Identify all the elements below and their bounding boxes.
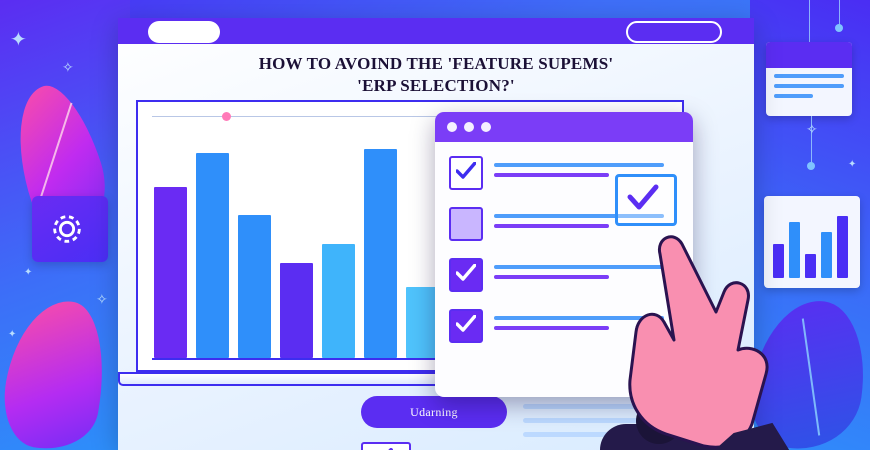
window-dot-icon[interactable] (481, 122, 491, 132)
page-title: HOW TO AVOIND THE 'FEATURE SUPEMS' 'ERP … (136, 54, 736, 96)
checkbox-3[interactable] (449, 258, 483, 292)
document-card-line (774, 94, 813, 98)
mini-bar (805, 254, 816, 278)
text-placeholder-line (494, 224, 609, 228)
hanging-dot-icon (807, 162, 815, 170)
panel-action-pill[interactable] (626, 21, 722, 43)
sparkle-icon: ✦ (10, 30, 27, 50)
panel-logo-pill (148, 21, 220, 43)
checkbox-1[interactable] (449, 156, 483, 190)
window-dot-icon[interactable] (464, 122, 474, 132)
hanging-dot-icon (835, 24, 843, 32)
checkbox-4[interactable] (449, 309, 483, 343)
check-icon (456, 315, 476, 333)
hanging-string (811, 116, 812, 164)
bar-3 (238, 215, 271, 358)
sparkle-icon: ✦ (24, 268, 32, 278)
mini-bar (821, 232, 832, 278)
check-icon (627, 184, 659, 212)
page-title-line-2: 'ERP SELECTION?' (136, 76, 736, 96)
hanging-string (809, 0, 810, 42)
sparkle-icon: ✦ (8, 330, 16, 340)
bar-4 (280, 263, 313, 358)
bar-1 (154, 187, 187, 358)
window-dot-icon[interactable] (447, 122, 457, 132)
text-placeholder-line (494, 326, 609, 330)
check-icon (456, 162, 476, 180)
cta-button[interactable]: Udarning (361, 396, 507, 428)
document-card-line (774, 74, 844, 78)
sparkle-icon: ✧ (62, 60, 74, 74)
text-placeholder-line (494, 275, 609, 279)
sparkle-icon: ✦ (848, 160, 856, 170)
sparkle-icon: ✧ (96, 292, 108, 306)
hanging-string (839, 0, 840, 26)
text-placeholder-line (494, 173, 609, 177)
document-card-header (766, 42, 852, 68)
bar-2 (196, 153, 229, 358)
gear-icon (48, 210, 86, 248)
document-card-line (774, 84, 844, 88)
pointing-hand-icon (612, 228, 792, 450)
cta-button-label: Udarning (410, 405, 458, 420)
text-placeholder-line (494, 163, 664, 167)
window-title-bar (435, 112, 693, 142)
bar-5 (322, 244, 355, 358)
page-title-line-1: HOW TO AVOIND THE 'FEATURE SUPEMS' (136, 54, 736, 74)
bar-6 (364, 149, 397, 358)
mini-bar (837, 216, 848, 278)
screenshot-stage: ✦ ✧ ✦ ✧ ✦ ✧ ✦ HOW TO AVOIND THE 'FE (0, 0, 870, 450)
document-card (766, 42, 852, 116)
check-icon (456, 264, 476, 282)
checkbox-2[interactable] (449, 207, 483, 241)
